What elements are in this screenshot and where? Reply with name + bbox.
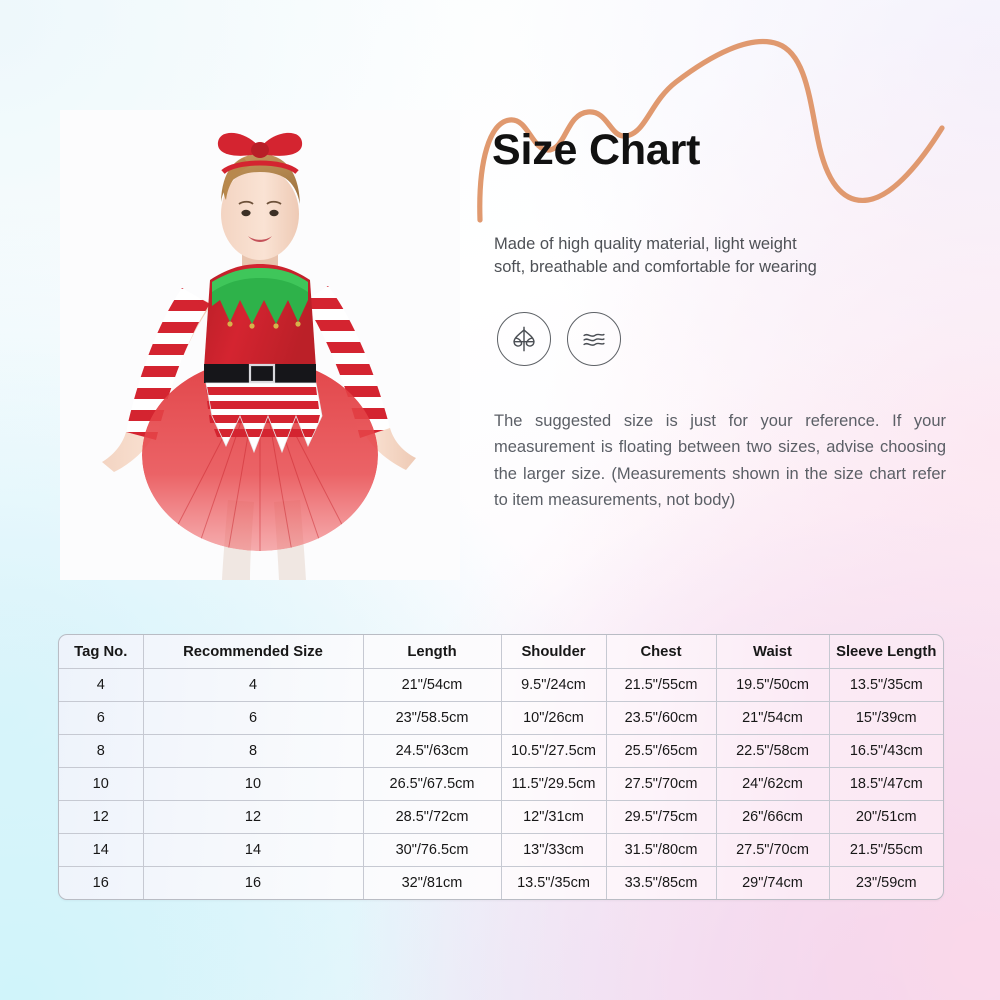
cell-r0-c2: 21"/54cm — [363, 669, 501, 702]
column-header-3: Shoulder — [501, 635, 606, 669]
size-chart-table-container: Tag No.Recommended SizeLengthShoulderChe… — [58, 634, 944, 900]
cell-r0-c5: 19.5"/50cm — [716, 669, 829, 702]
subtitle-line-2: soft, breathable and comfortable for wea… — [494, 256, 894, 279]
cell-r6-c6: 23"/59cm — [829, 867, 943, 900]
product-photo — [60, 110, 460, 580]
cell-r6-c0: 16 — [59, 867, 143, 900]
cell-r3-c3: 11.5"/29.5cm — [501, 768, 606, 801]
table-row: 101026.5"/67.5cm11.5"/29.5cm27.5"/70cm24… — [59, 768, 943, 801]
cell-r0-c1: 4 — [143, 669, 363, 702]
table-row: 141430"/76.5cm13"/33cm31.5"/80cm27.5"/70… — [59, 834, 943, 867]
cell-r0-c3: 9.5"/24cm — [501, 669, 606, 702]
cell-r1-c3: 10"/26cm — [501, 702, 606, 735]
cell-r6-c1: 16 — [143, 867, 363, 900]
hand-wash-wave-icon — [567, 312, 621, 366]
cell-r5-c5: 27.5"/70cm — [716, 834, 829, 867]
cell-r5-c2: 30"/76.5cm — [363, 834, 501, 867]
size-chart-page: Size Chart Made of high quality material… — [0, 0, 1000, 1000]
column-header-5: Waist — [716, 635, 829, 669]
cell-r3-c0: 10 — [59, 768, 143, 801]
column-header-4: Chest — [606, 635, 716, 669]
cell-r2-c0: 8 — [59, 735, 143, 768]
table-header-row: Tag No.Recommended SizeLengthShoulderChe… — [59, 635, 943, 669]
cell-r6-c5: 29"/74cm — [716, 867, 829, 900]
cell-r6-c4: 33.5"/85cm — [606, 867, 716, 900]
size-advice-note: The suggested size is just for your refe… — [494, 408, 946, 514]
cell-r6-c3: 13.5"/35cm — [501, 867, 606, 900]
cell-r1-c5: 21"/54cm — [716, 702, 829, 735]
cell-r5-c3: 13"/33cm — [501, 834, 606, 867]
cell-r4-c5: 26"/66cm — [716, 801, 829, 834]
cell-r2-c4: 25.5"/65cm — [606, 735, 716, 768]
elf-tutu-dress-illustration — [60, 110, 460, 580]
column-header-0: Tag No. — [59, 635, 143, 669]
cell-r1-c6: 15"/39cm — [829, 702, 943, 735]
table-body: 4421"/54cm9.5"/24cm21.5"/55cm19.5"/50cm1… — [59, 669, 943, 900]
cell-r3-c4: 27.5"/70cm — [606, 768, 716, 801]
column-header-2: Length — [363, 635, 501, 669]
care-instruction-icons — [497, 312, 621, 366]
decorative-swoosh-line — [470, 10, 950, 230]
cell-r5-c1: 14 — [143, 834, 363, 867]
table-row: 161632"/81cm13.5"/35cm33.5"/85cm29"/74cm… — [59, 867, 943, 900]
cell-r6-c2: 32"/81cm — [363, 867, 501, 900]
cell-r4-c3: 12"/31cm — [501, 801, 606, 834]
cell-r1-c4: 23.5"/60cm — [606, 702, 716, 735]
column-header-1: Recommended Size — [143, 635, 363, 669]
cell-r4-c1: 12 — [143, 801, 363, 834]
cell-r2-c2: 24.5"/63cm — [363, 735, 501, 768]
subtitle-line-1: Made of high quality material, light wei… — [494, 233, 894, 256]
cell-r3-c5: 24"/62cm — [716, 768, 829, 801]
cell-r0-c6: 13.5"/35cm — [829, 669, 943, 702]
cell-r5-c0: 14 — [59, 834, 143, 867]
product-subtitle: Made of high quality material, light wei… — [494, 233, 894, 279]
do-not-wring-icon — [497, 312, 551, 366]
cell-r1-c1: 6 — [143, 702, 363, 735]
cell-r4-c0: 12 — [59, 801, 143, 834]
cell-r4-c6: 20"/51cm — [829, 801, 943, 834]
cell-r2-c3: 10.5"/27.5cm — [501, 735, 606, 768]
column-header-6: Sleeve Length — [829, 635, 943, 669]
cell-r5-c6: 21.5"/55cm — [829, 834, 943, 867]
table-row: 121228.5"/72cm12"/31cm29.5"/75cm26"/66cm… — [59, 801, 943, 834]
cell-r3-c1: 10 — [143, 768, 363, 801]
cell-r1-c2: 23"/58.5cm — [363, 702, 501, 735]
cell-r0-c0: 4 — [59, 669, 143, 702]
page-title: Size Chart — [492, 128, 700, 173]
cell-r2-c5: 22.5"/58cm — [716, 735, 829, 768]
cell-r2-c6: 16.5"/43cm — [829, 735, 943, 768]
table-row: 4421"/54cm9.5"/24cm21.5"/55cm19.5"/50cm1… — [59, 669, 943, 702]
cell-r1-c0: 6 — [59, 702, 143, 735]
cell-r3-c6: 18.5"/47cm — [829, 768, 943, 801]
table-row: 6623"/58.5cm10"/26cm23.5"/60cm21"/54cm15… — [59, 702, 943, 735]
cell-r3-c2: 26.5"/67.5cm — [363, 768, 501, 801]
cell-r5-c4: 31.5"/80cm — [606, 834, 716, 867]
cell-r4-c4: 29.5"/75cm — [606, 801, 716, 834]
table-row: 8824.5"/63cm10.5"/27.5cm25.5"/65cm22.5"/… — [59, 735, 943, 768]
size-chart-table: Tag No.Recommended SizeLengthShoulderChe… — [59, 635, 943, 899]
cell-r4-c2: 28.5"/72cm — [363, 801, 501, 834]
cell-r0-c4: 21.5"/55cm — [606, 669, 716, 702]
cell-r2-c1: 8 — [143, 735, 363, 768]
